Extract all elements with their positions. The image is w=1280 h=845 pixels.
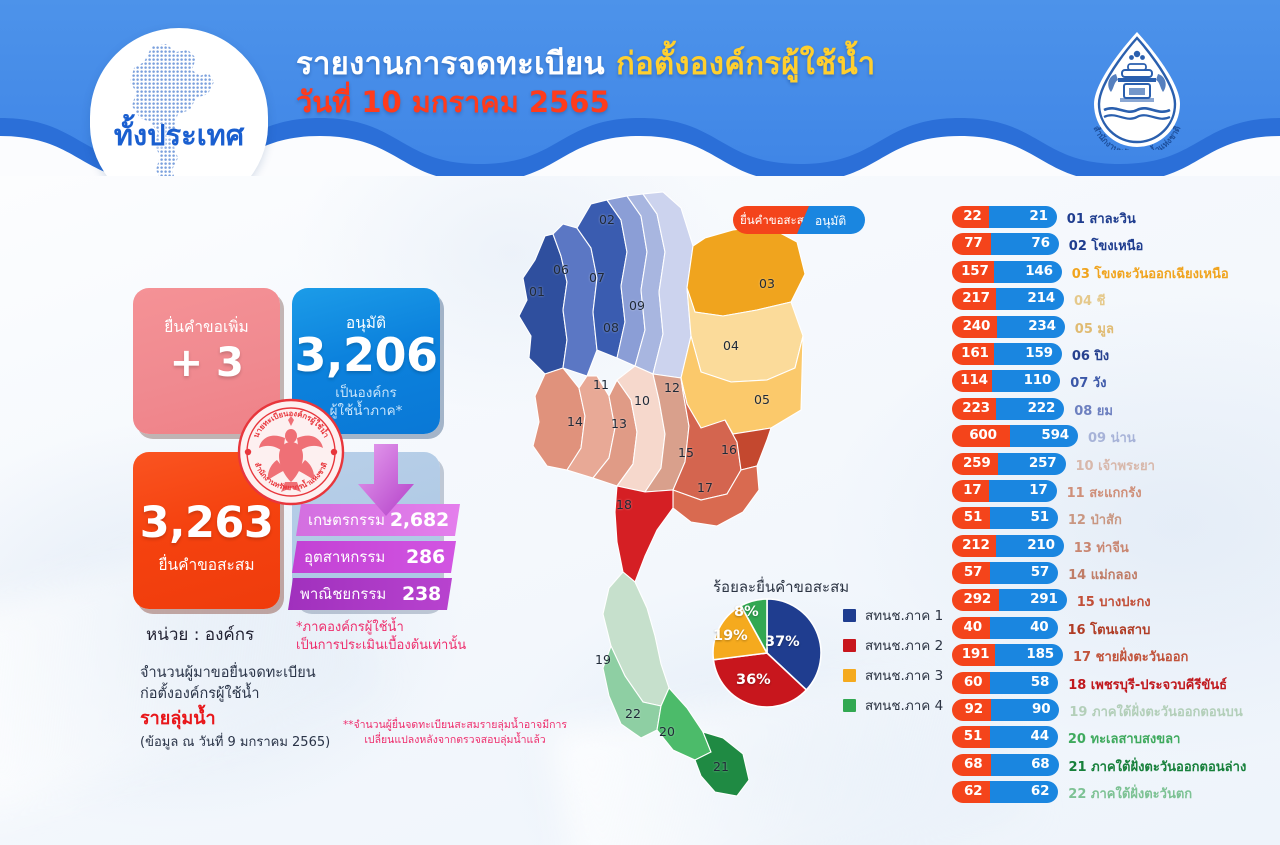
header-title-line1: รายงานการจดทะเบียน ก่อตั้งองค์กรผู้ใช้น้…: [296, 46, 936, 84]
map-region-20: [657, 688, 711, 760]
basin-name: 08 ยม: [1074, 400, 1113, 421]
basin-approved-value: 62: [1031, 783, 1049, 799]
basin-name: 13 ท่าจีน: [1074, 537, 1129, 558]
basin-approved-bar: 62: [990, 781, 1058, 803]
basin-submitted-bar: 62: [952, 781, 994, 803]
basin-row: 404016 โตนเลสาบ: [952, 616, 1262, 643]
legend-swatch-3: [843, 669, 856, 682]
map-region-18: [615, 486, 673, 582]
basin-submitted-value: 51: [952, 509, 994, 525]
basin-submitted-bar: 92: [952, 699, 995, 721]
basin-row: 929019 ภาคใต้ฝั่งตะวันออกตอนบน: [952, 698, 1262, 725]
basin-row: 575714 แม่กลอง: [952, 561, 1262, 588]
basin-submitted-bar: 51: [952, 726, 994, 748]
basin-approved-value: 185: [1026, 646, 1054, 662]
basin-submitted-bar: 40: [952, 617, 994, 639]
unit-label: หน่วย : องค์กร: [146, 621, 254, 648]
legend-label-3: สทนช.ภาค 3: [865, 664, 943, 686]
map-region-01: [519, 234, 567, 374]
basin-approved-value: 210: [1027, 537, 1055, 553]
basin-row: 60059409 น่าน: [952, 424, 1262, 451]
basin-name: 01 สาละวิน: [1067, 208, 1136, 229]
basin-approved-value: 594: [1041, 427, 1069, 443]
basin-approved-bar: 257: [998, 453, 1066, 475]
basin-approved-bar: 58: [990, 672, 1058, 694]
basin-submitted-bar: 191: [952, 644, 999, 666]
basin-name: 07 วัง: [1070, 372, 1106, 393]
sector-name-industry: อุตสาหกรรม: [304, 545, 385, 569]
basin-row: 19118517 ชายฝั่งตะวันออก: [952, 643, 1262, 670]
basin-submitted-bar: 600: [952, 425, 1014, 447]
pie-label-1: 37%: [765, 634, 800, 650]
basin-submitted-value: 57: [952, 564, 994, 580]
basin-submitted-bar: 68: [952, 754, 995, 776]
basin-name: 14 แม่กลอง: [1068, 564, 1138, 585]
basin-list: 222101 สาละวิน777602 โขงเหนือ15714603 โข…: [952, 205, 1262, 808]
basin-name: 16 โตนเลสาบ: [1068, 619, 1151, 640]
basin-row: 514420 ทะเลสาบสงขลา: [952, 725, 1262, 752]
basin-row: 22322208 ยม: [952, 397, 1262, 424]
legend-row-4: สทนช.ภาค 4: [843, 690, 943, 720]
basin-approved-bar: 40: [990, 617, 1058, 639]
basin-approved-value: 257: [1029, 455, 1057, 471]
pie-label-4: 8%: [734, 604, 759, 620]
pie-chart-legend: สทนช.ภาค 1สทนช.ภาค 2สทนช.ภาค 3สทนช.ภาค 4: [843, 600, 943, 720]
onwr-logo-icon: สำนักงานทรัพยากรน้ำแห่งชาติ: [1078, 26, 1196, 150]
footer-desc-line1: จำนวนผู้มาขอยื่นจดทะเบียน: [140, 663, 330, 684]
basin-submitted-bar: 17: [952, 480, 993, 502]
basin-approved-bar: 291: [999, 589, 1067, 611]
basin-row: 222101 สาละวิน: [952, 205, 1262, 232]
basin-approved-value: 58: [1031, 674, 1049, 690]
basin-approved-bar: 21: [989, 206, 1057, 228]
basin-approved-value: 51: [1031, 509, 1049, 525]
basin-approved-bar: 68: [991, 754, 1059, 776]
basin-submitted-bar: 292: [952, 589, 1003, 611]
down-arrow-icon: [352, 444, 420, 518]
basin-approved-value: 44: [1031, 728, 1049, 744]
infographic-page: รายงานการจดทะเบียน ก่อตั้งองค์กรผู้ใช้น้…: [0, 0, 1280, 845]
basin-row: 605818 เพชรบุรี-ประจวบคีรีขันธ์: [952, 671, 1262, 698]
basin-submitted-bar: 217: [952, 288, 1000, 310]
basin-approved-bar: 76: [991, 233, 1059, 255]
basin-name: 17 ชายฝั่งตะวันออก: [1073, 646, 1188, 667]
basin-submitted-value: 51: [952, 728, 994, 744]
basin-name: 02 โขงเหนือ: [1069, 235, 1144, 256]
basin-submitted-value: 217: [952, 290, 1000, 306]
basin-approved-bar: 222: [996, 398, 1064, 420]
basin-name: 11 สะแกกรัง: [1067, 482, 1142, 503]
basin-row: 16115906 ปิง: [952, 342, 1262, 369]
basin-submitted-value: 60: [952, 674, 994, 690]
pie-label-3: 19%: [713, 628, 748, 644]
basin-submitted-value: 17: [952, 482, 993, 498]
legend-swatch-1: [843, 609, 856, 622]
legend-label-1: สทนช.ภาค 1: [865, 604, 943, 626]
basin-approved-value: 234: [1028, 318, 1056, 334]
basin-approved-bar: 51: [990, 507, 1058, 529]
legend-row-1: สทนช.ภาค 1: [843, 600, 943, 630]
footnote-single-asterisk: *ภาคองค์กรผู้ใช้น้ำ เป็นการประเมินเบื้อง…: [296, 619, 466, 655]
page-header: รายงานการจดทะเบียน ก่อตั้งองค์กรผู้ใช้น้…: [0, 0, 1280, 176]
basin-name: 20 ทะเลสาบสงขลา: [1068, 728, 1181, 749]
basin-submitted-value: 40: [952, 619, 994, 635]
basin-submitted-bar: 51: [952, 507, 994, 529]
header-title-part-b: ก่อตั้งองค์กรผู้ใช้น้ำ: [616, 46, 875, 82]
basin-submitted-value: 600: [952, 427, 1014, 443]
map-svg: [505, 190, 835, 800]
basin-name: 03 โขงตะวันออกเฉียงเหนือ: [1072, 263, 1229, 284]
sector-bar-commerce: พาณิชยกรรม 238: [288, 578, 452, 610]
basin-row: 171711 สะแกกรัง: [952, 479, 1262, 506]
basin-approved-value: 222: [1028, 400, 1056, 416]
basin-submitted-value: 77: [952, 235, 995, 251]
footer-desc-line2: ก่อตั้งองค์กรผู้ใช้น้ำ: [140, 684, 330, 705]
basin-row: 29229115 บางปะกง: [952, 588, 1262, 615]
map-legend-pill: ยื่นคำขอสะสม อนุมัติ: [733, 206, 865, 234]
basin-approved-bar: 234: [997, 316, 1065, 338]
legend-row-2: สทนช.ภาค 2: [843, 630, 943, 660]
basin-submitted-value: 157: [952, 263, 998, 279]
basin-submitted-bar: 22: [952, 206, 993, 228]
basin-submitted-value: 259: [952, 455, 1002, 471]
basin-name: 06 ปิง: [1072, 345, 1109, 366]
basin-name: 12 ป่าสัก: [1068, 509, 1122, 530]
basin-approved-value: 291: [1030, 591, 1058, 607]
basin-name: 10 เจ้าพระยา: [1076, 455, 1155, 476]
basin-submitted-bar: 157: [952, 261, 998, 283]
basin-approved-bar: 57: [990, 562, 1058, 584]
basin-submitted-bar: 60: [952, 672, 994, 694]
basin-row: 25925710 เจ้าพระยา: [952, 452, 1262, 479]
basin-submitted-bar: 240: [952, 316, 1001, 338]
basin-submitted-bar: 77: [952, 233, 995, 255]
basin-approved-bar: 185: [995, 644, 1063, 666]
basin-row: 24023405 มูล: [952, 315, 1262, 342]
basin-approved-value: 214: [1027, 290, 1055, 306]
basin-submitted-bar: 259: [952, 453, 1002, 475]
basin-row: 21221013 ท่าจีน: [952, 534, 1262, 561]
card-pending-value: + 3: [133, 340, 280, 386]
header-title-block: รายงานการจดทะเบียน ก่อตั้งองค์กรผู้ใช้น้…: [296, 46, 936, 121]
basin-row: 15714603 โขงตะวันออกเฉียงเหนือ: [952, 260, 1262, 287]
basin-name: 19 ภาคใต้ฝั่งตะวันออกตอนบน: [1069, 701, 1242, 722]
basin-row: 21721404 ชี: [952, 287, 1262, 314]
sector-bar-industry: อุตสาหกรรม 286: [292, 541, 456, 573]
basin-submitted-bar: 161: [952, 343, 998, 365]
thailand-basin-map: 01 02 03 04 05 06 07 08 09 10 11 12 13 1…: [505, 190, 835, 800]
basin-approved-value: 17: [1029, 482, 1047, 498]
card-pending-label: ยื่นคำขอเพิ่ม: [133, 314, 280, 339]
header-title-part-a: รายงานการจดทะเบียน: [296, 46, 605, 82]
card-approved-value: 3,206: [292, 328, 440, 382]
basin-approved-value: 76: [1031, 235, 1049, 251]
pie-chart: [712, 598, 822, 708]
country-badge-label: ทั้งประเทศ: [90, 112, 268, 158]
pie-chart-title: ร้อยละยื่นคำขอสะสม: [713, 575, 849, 599]
header-date: วันที่ 10 มกราคม 2565: [296, 84, 936, 121]
basin-submitted-value: 114: [952, 372, 996, 388]
sector-name-commerce: พาณิชยกรรม: [300, 582, 386, 606]
basin-submitted-value: 240: [952, 318, 1001, 334]
basin-submitted-bar: 223: [952, 398, 1000, 420]
country-badge: ทั้งประเทศ: [90, 28, 268, 176]
basin-approved-value: 21: [1029, 208, 1047, 224]
basin-approved-bar: 594: [1010, 425, 1078, 447]
basin-approved-bar: 90: [991, 699, 1059, 721]
basin-submitted-value: 223: [952, 400, 1000, 416]
basin-name: 04 ชี: [1074, 290, 1105, 311]
footnote1-line2: เป็นการประเมินเบื้องต้นเท่านั้น: [296, 637, 466, 655]
basin-approved-value: 40: [1030, 619, 1048, 635]
sector-value-commerce: 238: [402, 583, 441, 605]
basin-approved-bar: 110: [992, 370, 1060, 392]
basin-approved-bar: 44: [990, 726, 1058, 748]
basin-submitted-bar: 57: [952, 562, 994, 584]
basin-name: 05 มูล: [1075, 318, 1114, 339]
basin-approved-value: 68: [1031, 756, 1049, 772]
pie-label-2: 36%: [736, 672, 771, 688]
basin-name: 09 น่าน: [1088, 427, 1136, 448]
basin-submitted-value: 161: [952, 345, 998, 361]
basin-approved-value: 90: [1032, 701, 1050, 717]
legend-swatch-2: [843, 639, 856, 652]
basin-row: 626222 ภาคใต้ฝั่งตะวันตก: [952, 780, 1262, 807]
legend-label-4: สทนช.ภาค 4: [865, 694, 943, 716]
sector-value-industry: 286: [406, 546, 445, 568]
basin-approved-bar: 210: [996, 535, 1064, 557]
footer-desc-highlight: รายลุ่มน้ำ: [140, 706, 330, 732]
legend-swatch-4: [843, 699, 856, 712]
basin-submitted-value: 22: [952, 208, 993, 224]
legend-approved-label: อนุมัติ: [815, 212, 846, 231]
basin-row: 777602 โขงเหนือ: [952, 232, 1262, 259]
garuda-seal-icon: นายทะเบียนองค์กรผู้ใช้น้ำ สำนักงานทรัพยา…: [237, 398, 345, 506]
basin-approved-value: 159: [1025, 345, 1053, 361]
footer-desc-date: (ข้อมูล ณ วันที่ 9 มกราคม 2565): [140, 734, 330, 753]
legend-approved: อนุมัติ: [797, 206, 865, 234]
basin-row: 515112 ป่าสัก: [952, 506, 1262, 533]
basin-submitted-bar: 114: [952, 370, 996, 392]
basin-approved-value: 57: [1031, 564, 1049, 580]
basin-submitted-bar: 212: [952, 535, 1000, 557]
basin-approved-bar: 159: [994, 343, 1062, 365]
basin-name: 15 บางปะกง: [1077, 591, 1151, 612]
basin-submitted-value: 292: [952, 591, 1003, 607]
basin-submitted-value: 62: [952, 783, 994, 799]
basin-submitted-value: 212: [952, 537, 1000, 553]
legend-row-3: สทนช.ภาค 3: [843, 660, 943, 690]
basin-approved-bar: 214: [996, 288, 1064, 310]
basin-approved-value: 146: [1025, 263, 1053, 279]
basin-name: 22 ภาคใต้ฝั่งตะวันตก: [1068, 783, 1192, 804]
basin-approved-value: 110: [1024, 372, 1052, 388]
basin-submitted-value: 68: [952, 756, 995, 772]
basin-row: 686821 ภาคใต้ฝั่งตะวันออกตอนล่าง: [952, 753, 1262, 780]
basin-submitted-value: 92: [952, 701, 995, 717]
legend-label-2: สทนช.ภาค 2: [865, 634, 943, 656]
card-total-label: ยื่นคำขอสะสม: [133, 552, 280, 577]
footnote1-line1: *ภาคองค์กรผู้ใช้น้ำ: [296, 619, 466, 637]
basin-submitted-value: 191: [952, 646, 999, 662]
basin-name: 18 เพชรบุรี-ประจวบคีรีขันธ์: [1068, 674, 1227, 695]
footer-description: จำนวนผู้มาขอยื่นจดทะเบียน ก่อตั้งองค์กรผ…: [140, 663, 330, 753]
basin-row: 11411007 วัง: [952, 369, 1262, 396]
basin-name: 21 ภาคใต้ฝั่งตะวันออกตอนล่าง: [1069, 756, 1247, 777]
basin-approved-bar: 146: [994, 261, 1062, 283]
basin-approved-bar: 17: [989, 480, 1057, 502]
